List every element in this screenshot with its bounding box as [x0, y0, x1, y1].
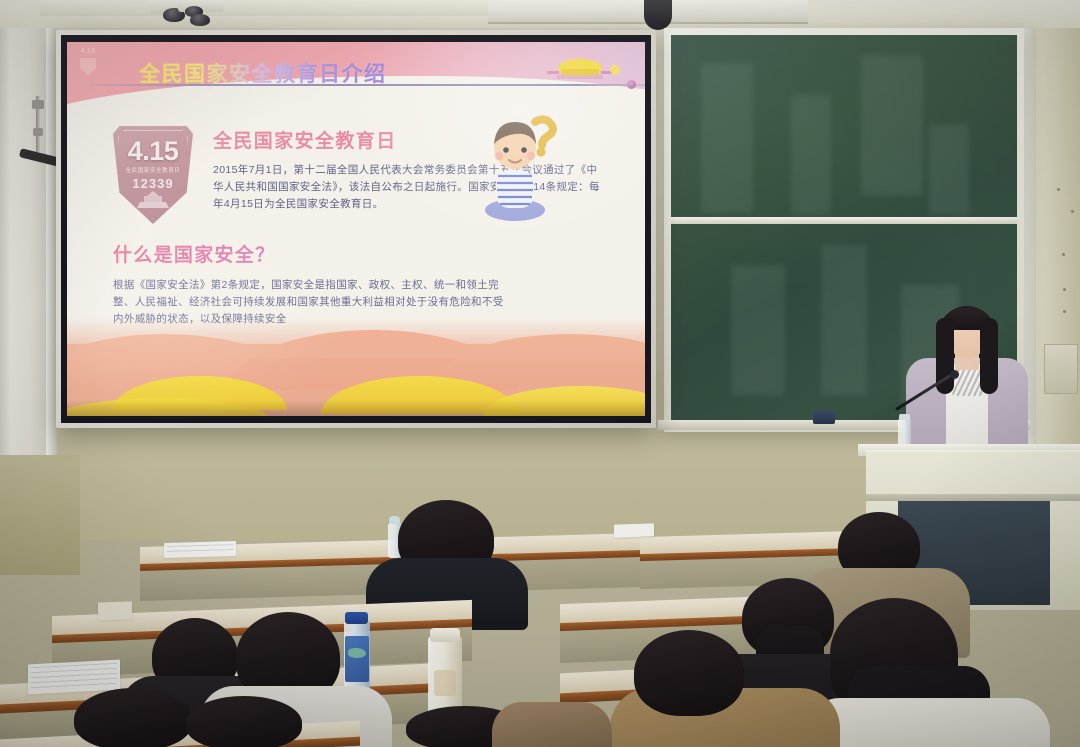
- presentation-slide: 4.15 全民国家安全教育日介绍: [67, 42, 645, 416]
- water-bottle-label: [345, 636, 369, 682]
- ceiling-camera-icon: [190, 14, 210, 26]
- lecture-hall-scene: 4.15 全民国家安全教育日介绍: [0, 0, 1080, 747]
- header-rule: [89, 84, 645, 86]
- corner-badge-icon: 4.15: [77, 48, 99, 76]
- chalk-eraser: [813, 411, 835, 424]
- student-torso: [492, 702, 612, 747]
- student-head: [634, 630, 744, 716]
- desk-item-box: [98, 601, 132, 620]
- thinking-boy-icon: [475, 114, 571, 226]
- student-torso: [806, 698, 1050, 747]
- projector-mount-nub: [33, 128, 43, 136]
- slide-body: 4.15 全民国家安全教育日 12339 全民国家安全教育日: [67, 104, 645, 416]
- seating-rows: [0, 430, 1080, 747]
- emblem-gate-icon: [133, 188, 173, 210]
- wall-screw-icon: [1063, 310, 1066, 313]
- thermos-flask-cap: [430, 628, 460, 642]
- ceiling-rail: [40, 0, 500, 16]
- projection-screen: 4.15 全民国家安全教育日介绍: [56, 30, 656, 428]
- section-2-heading: 什么是国家安全？: [113, 240, 513, 267]
- lectern-bottle-cap: [899, 414, 910, 420]
- ceiling-dome-camera-icon: [644, 0, 672, 30]
- handout-paper: [614, 523, 654, 537]
- wall-utility-box: [1044, 344, 1078, 394]
- tiananmen-gate-icon: [539, 57, 621, 83]
- wall-screw-icon: [1062, 253, 1065, 256]
- handout-paper: [28, 660, 120, 695]
- slide-header: 4.15 全民国家安全教育日介绍: [67, 42, 645, 104]
- corner-badge-shield-icon: [80, 58, 96, 75]
- wall-screw-icon: [1063, 288, 1066, 291]
- slide-landscape: [67, 308, 645, 416]
- chalkboard-divider: [671, 217, 1017, 224]
- header-rule-endpoint: [627, 80, 636, 89]
- screen-bezel: 4.15 全民国家安全教育日介绍: [61, 35, 651, 423]
- water-bottle-blue-cap: [345, 612, 368, 624]
- thermos-flask-label: [434, 670, 456, 696]
- student-head: [74, 688, 192, 747]
- wall-screw-icon: [1071, 210, 1074, 213]
- water-bottle-cap: [389, 516, 400, 524]
- shield-emblem-icon: 4.15 全民国家安全教育日 12339: [113, 126, 193, 224]
- emblem-date: 4.15: [113, 136, 193, 167]
- handout-paper: [164, 541, 236, 558]
- presenter-hair-right: [980, 318, 998, 394]
- left-wall-strip: [0, 0, 10, 470]
- emblem-subtitle: 全民国家安全教育日: [113, 166, 193, 174]
- corner-badge-date: 4.15: [77, 48, 99, 55]
- microphone-icon: [950, 370, 959, 379]
- projector-mount-nub: [32, 100, 44, 109]
- wall-screw-icon: [1057, 188, 1060, 191]
- water-bottle-label-art: [348, 648, 366, 658]
- student-head: [186, 696, 302, 747]
